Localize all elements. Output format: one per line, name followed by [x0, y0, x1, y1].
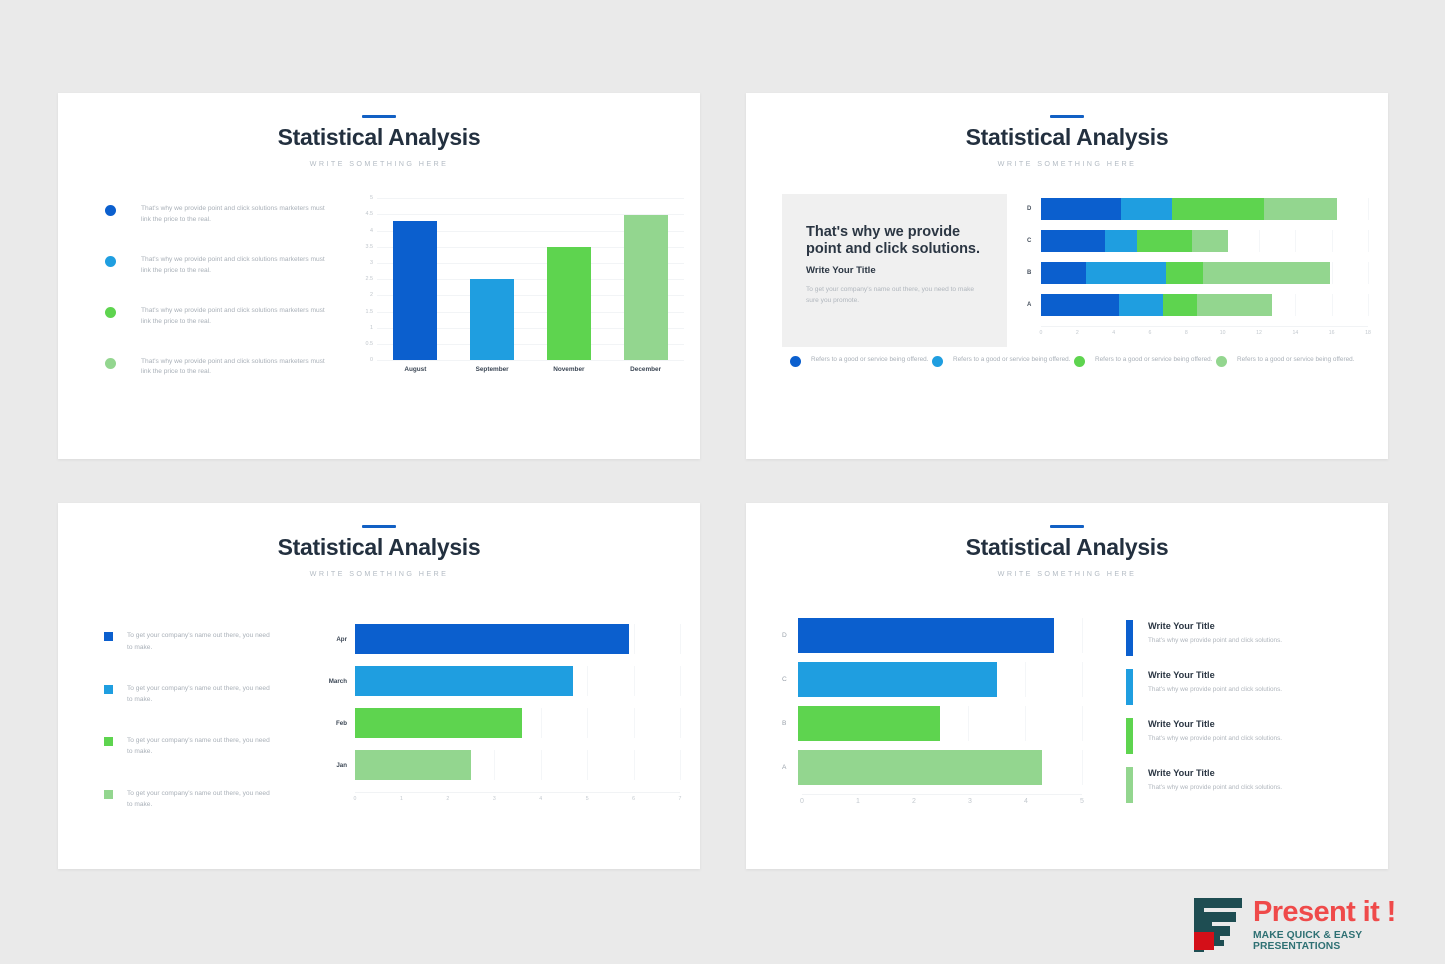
legend-item: Write Your TitleThat's why we provide po… [1126, 669, 1364, 705]
x-axis-tick: 4 [539, 796, 542, 802]
gridline [680, 624, 681, 654]
bullet-dot-icon [105, 256, 116, 267]
legend-stripe-icon [1126, 669, 1133, 705]
legend-description: That's why we provide point and click so… [1148, 637, 1282, 644]
slide-2-header: Statistical Analysis WRITE SOMETHING HER… [746, 93, 1388, 168]
slide-4-legend: Write Your TitleThat's why we provide po… [1126, 618, 1364, 816]
present-it-logo[interactable]: Present it ! MAKE QUICK & EASY PRESENTAT… [1192, 896, 1445, 954]
bar-segment[interactable] [1041, 198, 1121, 220]
x-axis-tick: 0 [354, 796, 357, 802]
bar-segment[interactable] [1172, 198, 1265, 220]
legend-item: Write Your TitleThat's why we provide po… [1126, 767, 1364, 803]
gridline [541, 750, 542, 780]
page-subtitle: WRITE SOMETHING HERE [58, 569, 700, 578]
x-axis-tick: 4 [1024, 798, 1028, 805]
legend-item: Refers to a good or service being offere… [1216, 355, 1358, 367]
gridline [1368, 262, 1369, 284]
y-axis-tick: 1.5 [366, 309, 374, 315]
bullet-square-icon [104, 737, 113, 746]
table-row: Apr [319, 624, 680, 654]
bar[interactable] [355, 750, 471, 780]
slide-2-chart: DCBA 024681012141618 [1027, 194, 1368, 347]
x-axis-tick: 6 [1149, 330, 1152, 336]
slide-4-body: DCBA 012345 Write Your TitleThat's why w… [746, 578, 1388, 816]
list-item-label: That's why we provide point and click so… [141, 204, 336, 226]
bar-slot [470, 198, 514, 360]
legend-title: Write Your Title [1148, 670, 1282, 680]
gridline [1368, 230, 1369, 252]
callout-heading: That's why we provide point and click so… [806, 224, 983, 258]
gridline [634, 666, 635, 696]
slide-1-chart: 54.543.532.521.510.50 AugustSeptemberNov… [361, 198, 684, 407]
legend-title: Write Your Title [1148, 768, 1282, 778]
legend-stripe-icon [1126, 718, 1133, 754]
page-title: Statistical Analysis [746, 125, 1388, 150]
slide-3[interactable]: Statistical Analysis WRITE SOMETHING HER… [58, 503, 700, 869]
table-row: D [782, 618, 1082, 653]
bar-segment[interactable] [1121, 198, 1172, 220]
slide-2[interactable]: Statistical Analysis WRITE SOMETHING HER… [746, 93, 1388, 459]
x-axis-tick: 0 [800, 798, 804, 805]
stacked-bar[interactable] [1041, 198, 1337, 220]
gridline [1295, 230, 1296, 252]
legend-dot-icon [790, 356, 801, 367]
page-title: Statistical Analysis [58, 535, 700, 560]
slide-1-header: Statistical Analysis WRITE SOMETHING HER… [58, 93, 700, 168]
x-axis-tick: 16 [1329, 330, 1335, 336]
logo-tagline: MAKE QUICK & EASY PRESENTATIONS [1253, 930, 1445, 952]
slide-1-body: That's why we provide point and click so… [58, 168, 700, 407]
table-row: A [782, 750, 1082, 785]
list-item-label: To get your company's name out there, yo… [127, 735, 277, 757]
bar-track [1041, 294, 1368, 316]
bar-track [1041, 230, 1368, 252]
y-axis-tick: 4 [370, 228, 373, 234]
gridline [1332, 262, 1333, 284]
y-axis-tick: 4.5 [366, 211, 374, 217]
legend-title: Write Your Title [1148, 621, 1282, 631]
legend-item: Write Your TitleThat's why we provide po… [1126, 620, 1364, 656]
slide-2-body: That's why we provide point and click so… [746, 168, 1388, 347]
bar-segment[interactable] [1203, 262, 1330, 284]
x-axis-tick: 6 [632, 796, 635, 802]
gridline [1368, 198, 1369, 220]
x-axis: 012345 [802, 794, 1082, 806]
y-axis-tick: A [1027, 302, 1041, 308]
stacked-bar[interactable] [1041, 294, 1272, 316]
bar-segment[interactable] [1192, 230, 1228, 252]
gridline [1025, 662, 1026, 697]
x-axis: 01234567 [355, 792, 680, 804]
list-item: That's why we provide point and click so… [105, 357, 355, 379]
x-axis-tick: 2 [446, 796, 449, 802]
bar[interactable] [624, 215, 668, 361]
nested-corners-logo-icon [1192, 896, 1244, 954]
horizontal-bar-rows: DCBA [782, 618, 1082, 785]
x-axis-tick: 5 [586, 796, 589, 802]
accent-bar-icon [362, 525, 396, 528]
y-axis-tick: C [782, 676, 798, 683]
x-axis-tick: 0 [1040, 330, 1043, 336]
page-subtitle: WRITE SOMETHING HERE [58, 159, 700, 168]
list-item-label: That's why we provide point and click so… [141, 357, 336, 379]
y-axis-tick: D [1027, 206, 1041, 212]
slide-2-legend: Refers to a good or service being offere… [746, 347, 1388, 367]
bar[interactable] [355, 624, 629, 654]
gridline [680, 750, 681, 780]
legend-item: Refers to a good or service being offere… [790, 355, 932, 367]
logo-main-text: Present it ! [1253, 898, 1445, 927]
bullet-dot-icon [105, 205, 116, 216]
bar-slot [547, 198, 591, 360]
list-item-label: To get your company's name out there, yo… [127, 788, 277, 810]
gridline [587, 666, 588, 696]
bar[interactable] [355, 666, 573, 696]
callout-subheading: Write Your Title [806, 265, 983, 276]
gridline [377, 360, 684, 361]
bar-segment[interactable] [1105, 230, 1138, 252]
bar[interactable] [798, 706, 940, 741]
table-row: Feb [319, 708, 680, 738]
bar-track [1041, 262, 1368, 284]
gridline [680, 666, 681, 696]
y-axis-tick: 1 [370, 325, 373, 331]
x-axis: 024681012141618 [1041, 326, 1368, 338]
gridline [587, 750, 588, 780]
bar[interactable] [547, 247, 591, 360]
bar-track [355, 624, 680, 654]
legend-title: Write Your Title [1148, 719, 1282, 729]
table-row: A [1027, 294, 1368, 316]
x-axis-tick: 3 [968, 798, 972, 805]
bar-segment[interactable] [1041, 230, 1105, 252]
bar-segment[interactable] [1197, 294, 1271, 316]
bar-track [798, 750, 1082, 785]
gridline [1082, 618, 1083, 653]
bar-track [355, 708, 680, 738]
gridline [968, 706, 969, 741]
slide-3-chart: AprMarchFebJan 01234567 [319, 622, 680, 840]
bar[interactable] [798, 750, 1042, 785]
list-item: That's why we provide point and click so… [105, 204, 355, 226]
bar-track [1041, 198, 1368, 220]
list-item-label: To get your company's name out there, yo… [127, 683, 277, 705]
bar[interactable] [393, 221, 437, 360]
gridline [541, 708, 542, 738]
gridline [634, 708, 635, 738]
slide-3-legend: To get your company's name out there, yo… [104, 622, 319, 840]
x-axis-tick: 2 [1076, 330, 1079, 336]
x-axis-tick: 1 [400, 796, 403, 802]
bar-track [355, 750, 680, 780]
legend-stripe-icon [1126, 767, 1133, 803]
y-axis-tick: 2 [370, 292, 373, 298]
bar-slot [393, 198, 437, 360]
legend-label: Refers to a good or service being offere… [1237, 355, 1354, 366]
gridline [1259, 230, 1260, 252]
slide-3-body: To get your company's name out there, yo… [58, 578, 700, 840]
bar[interactable] [798, 618, 1054, 653]
bar-slot [624, 198, 668, 360]
stacked-bar-rows: DCBA [1027, 198, 1368, 316]
y-axis-tick: B [782, 720, 798, 727]
bullet-square-icon [104, 685, 113, 694]
slide-1-legend: That's why we provide point and click so… [105, 198, 355, 407]
list-item-label: That's why we provide point and click so… [141, 306, 336, 328]
x-axis-tick: 7 [679, 796, 682, 802]
bullet-dot-icon [105, 307, 116, 318]
legend-item: Refers to a good or service being offere… [1074, 355, 1216, 367]
legend-body: Write Your TitleThat's why we provide po… [1148, 767, 1282, 803]
bar-segment[interactable] [1041, 262, 1086, 284]
list-item-label: That's why we provide point and click so… [141, 255, 336, 277]
table-row: March [319, 666, 680, 696]
gridline [1295, 294, 1296, 316]
gridline [1025, 706, 1026, 741]
callout-paragraph: To get your company's name out there, yo… [806, 284, 983, 307]
x-axis-tick: 1 [856, 798, 860, 805]
legend-dot-icon [932, 356, 943, 367]
legend-body: Write Your TitleThat's why we provide po… [1148, 718, 1282, 754]
gridline [1082, 706, 1083, 741]
legend-item: Write Your TitleThat's why we provide po… [1126, 718, 1364, 754]
gridline [680, 708, 681, 738]
bar-group [377, 198, 684, 360]
gridline [1332, 230, 1333, 252]
gridline [494, 750, 495, 780]
list-item: That's why we provide point and click so… [105, 306, 355, 328]
bar-track [798, 618, 1082, 653]
x-axis-tick: 2 [912, 798, 916, 805]
x-axis-tick: November [547, 366, 591, 373]
y-axis-tick: A [782, 764, 798, 771]
bar-segment[interactable] [1119, 294, 1163, 316]
legend-body: Write Your TitleThat's why we provide po… [1148, 620, 1282, 656]
bar[interactable] [798, 662, 997, 697]
page-subtitle: WRITE SOMETHING HERE [746, 569, 1388, 578]
bar-segment[interactable] [1041, 294, 1119, 316]
bullet-square-icon [104, 632, 113, 641]
bar[interactable] [470, 279, 514, 360]
y-axis-tick: 3 [370, 260, 373, 266]
x-axis-tick: December [624, 366, 668, 373]
y-axis-tick: 2.5 [366, 276, 374, 282]
x-axis-tick: 8 [1185, 330, 1188, 336]
table-row: D [1027, 198, 1368, 220]
accent-bar-icon [362, 115, 396, 118]
bullet-dot-icon [105, 358, 116, 369]
accent-bar-icon [1050, 115, 1084, 118]
gridline [634, 624, 635, 654]
bar-segment[interactable] [1166, 262, 1202, 284]
x-axis-labels: AugustSeptemberNovemberDecember [377, 366, 684, 373]
list-item: That's why we provide point and click so… [105, 255, 355, 277]
list-item: To get your company's name out there, yo… [104, 735, 319, 757]
bar-track [355, 666, 680, 696]
y-axis-tick: C [1027, 238, 1041, 244]
table-row: C [1027, 230, 1368, 252]
y-axis-tick: Feb [319, 720, 347, 727]
gridline [1368, 294, 1369, 316]
list-item: To get your company's name out there, yo… [104, 630, 319, 652]
y-axis-tick: 0 [370, 357, 373, 363]
stacked-bar[interactable] [1041, 262, 1330, 284]
bar-segment[interactable] [1163, 294, 1198, 316]
legend-description: That's why we provide point and click so… [1148, 735, 1282, 742]
legend-item: Refers to a good or service being offere… [932, 355, 1074, 367]
x-axis-tick: September [470, 366, 514, 373]
x-axis-tick: 5 [1080, 798, 1084, 805]
gridline [1082, 662, 1083, 697]
slide-4[interactable]: Statistical Analysis WRITE SOMETHING HER… [746, 503, 1388, 869]
legend-stripe-icon [1126, 620, 1133, 656]
bar[interactable] [355, 708, 522, 738]
slide-4-chart: DCBA 012345 [782, 618, 1082, 816]
x-axis-tick: 12 [1256, 330, 1262, 336]
horizontal-bar-rows: AprMarchFebJan [319, 624, 680, 780]
slide-3-header: Statistical Analysis WRITE SOMETHING HER… [58, 503, 700, 578]
gridline [1332, 294, 1333, 316]
x-axis-tick: 4 [1112, 330, 1115, 336]
page-subtitle: WRITE SOMETHING HERE [746, 159, 1388, 168]
legend-body: Write Your TitleThat's why we provide po… [1148, 669, 1282, 705]
y-axis-tick: D [782, 632, 798, 639]
list-item: To get your company's name out there, yo… [104, 788, 319, 810]
page-title: Statistical Analysis [746, 535, 1388, 560]
y-axis-tick: March [319, 678, 347, 685]
x-axis-tick: 10 [1220, 330, 1226, 336]
y-axis-tick: Apr [319, 636, 347, 643]
text-callout-box: That's why we provide point and click so… [782, 194, 1007, 347]
table-row: B [1027, 262, 1368, 284]
legend-dot-icon [1074, 356, 1085, 367]
legend-description: That's why we provide point and click so… [1148, 784, 1282, 791]
bar-track [798, 706, 1082, 741]
gridline [587, 708, 588, 738]
list-item: To get your company's name out there, yo… [104, 683, 319, 705]
x-axis-tick: 14 [1292, 330, 1298, 336]
bullet-square-icon [104, 790, 113, 799]
slide-4-header: Statistical Analysis WRITE SOMETHING HER… [746, 503, 1388, 578]
y-axis-tick: 3.5 [366, 244, 374, 250]
list-item-label: To get your company's name out there, yo… [127, 630, 277, 652]
bar-segment[interactable] [1086, 262, 1166, 284]
gridline [1082, 750, 1083, 785]
table-row: B [782, 706, 1082, 741]
y-axis-tick: B [1027, 270, 1041, 276]
legend-label: Refers to a good or service being offere… [953, 355, 1070, 366]
slide-deck: Statistical Analysis WRITE SOMETHING HER… [58, 93, 1388, 869]
y-axis-tick: 5 [370, 195, 373, 201]
logo-text: Present it ! MAKE QUICK & EASY PRESENTAT… [1253, 898, 1445, 952]
legend-description: That's why we provide point and click so… [1148, 686, 1282, 693]
y-axis-tick: Jan [319, 762, 347, 769]
vertical-bar-chart: 54.543.532.521.510.50 [377, 198, 684, 360]
x-axis-tick: August [393, 366, 437, 373]
bar-segment[interactable] [1137, 230, 1191, 252]
gridline [634, 750, 635, 780]
x-axis-tick: 18 [1365, 330, 1371, 336]
legend-dot-icon [1216, 356, 1227, 367]
table-row: C [782, 662, 1082, 697]
legend-label: Refers to a good or service being offere… [811, 355, 928, 366]
accent-bar-icon [1050, 525, 1084, 528]
page-title: Statistical Analysis [58, 125, 700, 150]
table-row: Jan [319, 750, 680, 780]
bar-segment[interactable] [1264, 198, 1337, 220]
slide-1[interactable]: Statistical Analysis WRITE SOMETHING HER… [58, 93, 700, 459]
y-axis-tick: 0.5 [366, 341, 374, 347]
x-axis-tick: 3 [493, 796, 496, 802]
stacked-bar[interactable] [1041, 230, 1228, 252]
bar-track [798, 662, 1082, 697]
legend-label: Refers to a good or service being offere… [1095, 355, 1212, 366]
